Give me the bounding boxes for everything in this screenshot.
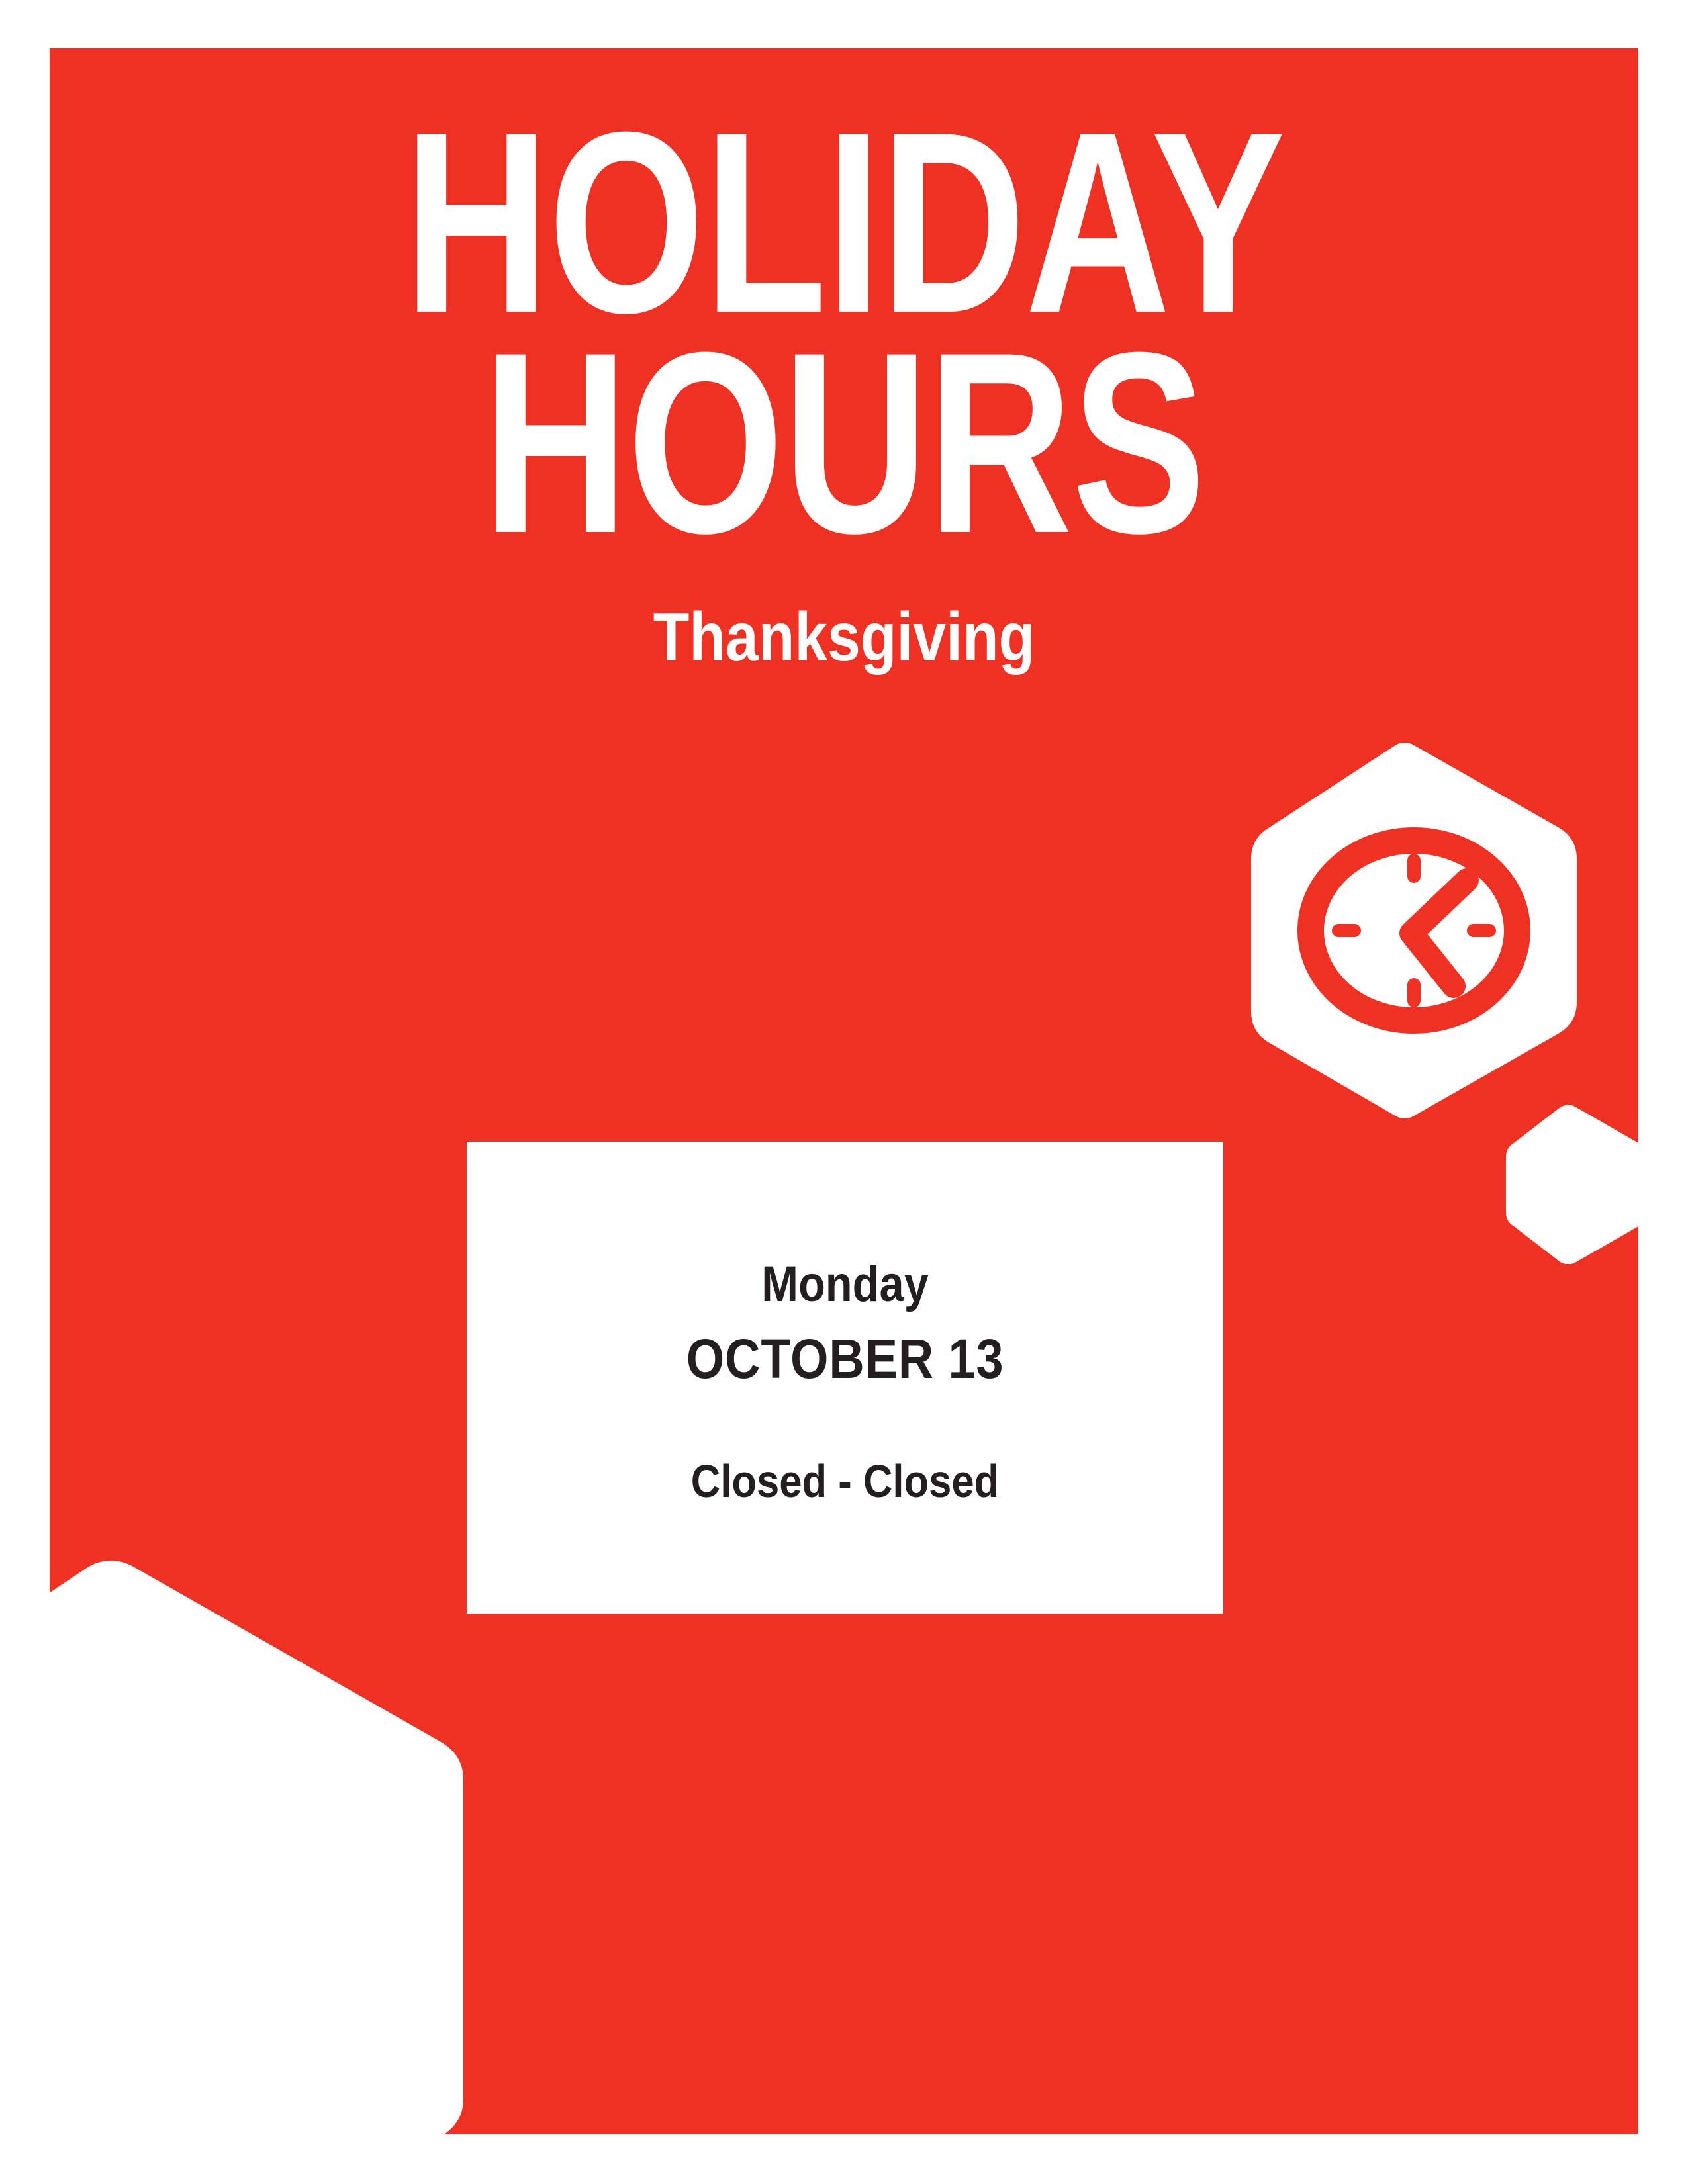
red-background-panel: HOLIDAY HOURS Thanksgiving [50, 48, 1638, 2134]
hours-info-card: Monday OCTOBER 13 Closed - Closed [467, 1142, 1223, 1614]
bottom-left-hexagon-decoration [50, 1559, 463, 2134]
page-subtitle: Thanksgiving [161, 603, 1527, 672]
info-card-hours: Closed - Closed [691, 1458, 999, 1504]
headline-block: HOLIDAY HOURS Thanksgiving [50, 48, 1638, 672]
clock-icon [1311, 841, 1517, 1021]
small-hexagon-decoration [1506, 1105, 1638, 1264]
holiday-hours-poster: HOLIDAY HOURS Thanksgiving [0, 0, 1688, 2184]
page-title-line-1: HOLIDAY [224, 104, 1464, 341]
clock-hexagon-badge [1251, 741, 1577, 1120]
info-card-day: Monday [761, 1259, 929, 1310]
info-card-date: OCTOBER 13 [686, 1331, 1004, 1387]
page-title-line-2: HOURS [224, 324, 1464, 562]
